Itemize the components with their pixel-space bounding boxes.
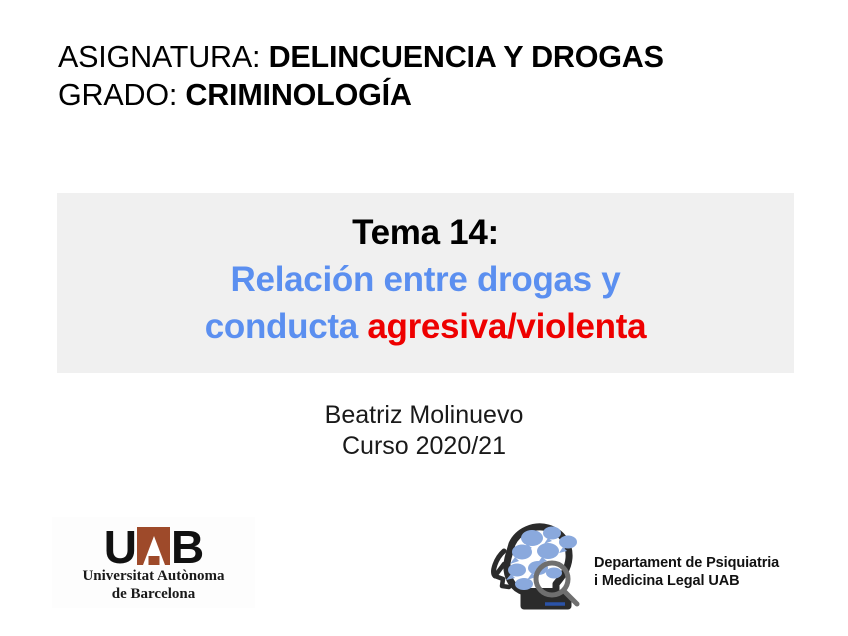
degree-label: GRADO: <box>58 78 185 112</box>
department-line2: i Medicina Legal UAB <box>594 572 794 590</box>
title-line-three: conducta agresiva/violenta <box>205 303 647 350</box>
author-name: Beatriz Molinuevo <box>0 400 848 431</box>
header-line-subject: ASIGNATURA: DELINCUENCIA Y DROGAS <box>58 38 818 76</box>
uab-subtitle-line1: Universitat Autònoma <box>52 567 255 585</box>
title-topic-number: Tema 14: <box>352 209 499 256</box>
department-name: Departament de Psiquiatria i Medicina Le… <box>594 554 794 590</box>
uab-letter-u: U <box>104 527 136 567</box>
subject-label: ASIGNATURA: <box>58 40 269 74</box>
author-course: Curso 2020/21 <box>0 431 848 462</box>
title-line-three-red: agresiva/violenta <box>367 307 646 346</box>
course-header: ASIGNATURA: DELINCUENCIA Y DROGAS GRADO:… <box>58 38 818 114</box>
uab-letter-a-icon <box>137 527 170 565</box>
header-line-degree: GRADO: CRIMINOLOGÍA <box>58 76 818 114</box>
uab-subtitle-line2: de Barcelona <box>52 585 255 603</box>
subject-value: DELINCUENCIA Y DROGAS <box>269 40 664 74</box>
uab-subtitle: Universitat Autònoma de Barcelona <box>52 567 255 603</box>
title-line-two: Relación entre drogas y <box>231 256 621 303</box>
department-logo: Departament de Psiquiatria i Medicina Le… <box>482 518 792 610</box>
title-line-two-text: Relación entre drogas y <box>231 260 621 299</box>
uab-logo: U B Universitat Autònoma de Barcelona <box>52 517 255 608</box>
author-block: Beatriz Molinuevo Curso 2020/21 <box>0 400 848 462</box>
uab-wordmark: U B <box>52 527 255 567</box>
head-with-thought-bubbles-icon <box>482 518 587 610</box>
title-line-three-blue: conducta <box>205 307 368 346</box>
department-line1: Departament de Psiquiatria <box>594 554 794 572</box>
degree-value: CRIMINOLOGÍA <box>185 78 411 112</box>
title-panel: Tema 14: Relación entre drogas y conduct… <box>57 193 794 373</box>
uab-letter-b: B <box>171 527 203 567</box>
